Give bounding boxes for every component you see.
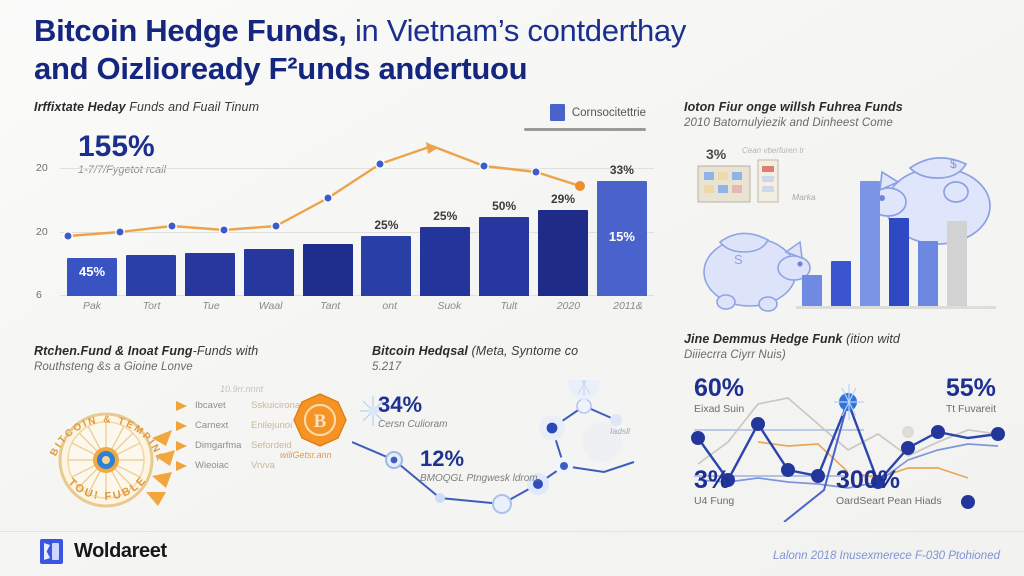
lines-stat-tr-caption: Tt Fuvareit [946,403,996,415]
lines-stat-tr-value: 55% [946,376,996,401]
network-stat-2-value: 12% [420,448,540,470]
network-node-label: Iadsll [610,426,630,436]
arrow-icon [176,461,187,471]
wheel-legend-value: Vrvva [251,460,275,471]
wheel-title-rest: -Funds with [193,344,259,358]
wheel-panel: Rtchen.Fund & Inoat Fung-Funds with Rout… [34,344,364,529]
piggy-panel-title: Ioton Fiur onge willsh Fuhrea Funds [684,100,1004,114]
brand-name: Woldareet [74,540,167,563]
wheel-legend-row: CarnextEnilejunoi [176,420,300,431]
x-axis-label: Pak [66,300,118,312]
wheel-legend-key: Wieoiac [195,460,243,471]
x-axis-label: Suok [423,300,475,312]
network-stat-1-value: 34% [378,394,447,416]
network-stat-1-caption: Cersn Culioram [378,419,447,430]
piggy-note: Cean vberfuren tr [742,146,828,155]
legend-swatch-icon [550,104,565,121]
combo-title-bold: Irffixtate Heday [34,100,126,114]
page-title: Bitcoin Hedge Funds, in Vietnam’s contde… [34,12,864,88]
network-stat-2: 12% BMOQGL Ptngwesk ldrom. [420,448,540,484]
poster-header: Bitcoin Hedge Funds, in Vietnam’s contde… [34,12,864,88]
trend-arrow-icon [426,142,438,154]
legend-rule-line [524,128,646,131]
lines-stat-br-value: 300% [836,468,942,493]
wheel-panel-title: Rtchen.Fund & Inoat Fung-Funds with [34,344,364,358]
network-title-rest: (Meta, Syntome co [468,344,578,358]
title-secondary: in Vietnam’s contderthay [347,13,686,48]
arrow-icon [176,441,187,451]
mini-bar[interactable] [802,275,822,307]
x-axis-label: Tue [185,300,237,312]
wheel-panel-subtitle: Routhsteng &s a Gioine Lonve [34,361,364,373]
lines-stat-tl-value: 60% [694,376,744,401]
arrow-icon [176,421,187,431]
x-axis-label: Tort [126,300,178,312]
piggy-bank-sketch-icon: S [690,212,812,314]
lines-title-bold: Jine Demmus Hedge Funk [684,332,843,346]
y-axis-tick: 20 [36,226,48,238]
bitcoin-badge-label: wiliGetsr.ann [280,450,332,460]
combo-stat-value: 155% [78,132,166,162]
mini-bar-group [802,179,967,307]
svg-text:$: $ [950,157,957,171]
wheel-legend-key: Dimgarfma [195,440,243,451]
network-panel-subtitle: 5.217 [372,361,672,373]
x-axis-label: Tant [304,300,356,312]
lines-title-rest: (ition witd [843,332,900,346]
x-axis-label: 2011& [602,300,654,312]
lines-stat-bottom-left: 3% U4 Fung [694,468,734,507]
lines-stat-bottom-right: 300% OardSeart Pean Hiads [836,468,942,507]
building-sketch-icon [696,158,788,204]
mini-bar[interactable] [860,181,880,307]
wheel-legend-row: IbcavetSskuicirona [176,400,300,411]
piggy-bank-panel: Ioton Fiur onge willsh Fuhrea Funds 2010… [684,100,1004,325]
bitcoin-badge-icon: B [292,392,348,448]
network-title-bold: Bitcoin Hedqsal [372,344,468,358]
lines-stat-br-caption: OardSeart Pean Hiads [836,495,942,507]
lines-stat-tl-caption: Eixad Suin [694,403,744,415]
lines-stat-bl-caption: U4 Fung [694,495,734,507]
svg-text:S: S [734,252,743,267]
combo-chart-panel: Irffixtate Heday Funds and Fuail Tinum 1… [34,100,654,325]
arrow-icon [176,401,187,411]
mini-bar[interactable] [889,218,909,307]
trend-line-overlay [60,168,660,296]
title-line-2: and Oizlioready F²unds andertuou [34,50,864,88]
x-axis-label: Tult [483,300,535,312]
spoked-wheel-icon: BITCOIN & TEMPINE S TOU! FUBLE [36,388,176,522]
brand-lockup: Woldareet [40,539,167,564]
piggy-panel-subtitle: 2010 Batornulyiezik and Dinheest Come [684,117,1004,129]
trend-line-markers [64,160,585,240]
mini-bar[interactable] [947,221,967,307]
snowflake-accent-icon [834,384,864,420]
wheel-legend-list: IbcavetSskuicironaCarnextEnilejunoiDimga… [176,400,300,471]
mini-chart-baseline [796,306,996,309]
legend-label: Cornsocitettrie [572,107,646,119]
multi-line-panel: Jine Demmus Hedge Funk (ition witd Diiie… [684,332,1006,532]
x-axis-label: 2020 [542,300,594,312]
combo-plot-area: 20 20 6 45%25%25%50%29%33%15% [60,168,654,296]
wheel-legend-key: Carnext [195,420,243,431]
wheel-title-bold: Rtchen.Fund & Inoat Fung [34,344,193,358]
combo-title-rest: Funds and Fuail Tinum [126,100,259,114]
lines-stat-top-left: 60% Eixad Suin [694,376,744,415]
wheel-legend-row: WieoiacVrvva [176,460,300,471]
y-axis-tick: 20 [36,162,48,174]
network-stat-2-caption: BMOQGL Ptngwesk ldrom. [420,473,540,484]
svg-text:B: B [314,411,327,432]
lines-panel-title: Jine Demmus Hedge Funk (ition witd [684,332,1006,346]
lines-stat-top-right: 55% Tt Fuvareit [946,376,996,415]
brand-logo-icon [40,539,63,564]
x-axis-labels: PakTortTueWaalTantontSuokTult20202011& [66,300,654,312]
network-panel-title: Bitcoin Hedqsal (Meta, Syntome co [372,344,672,358]
chart-legend: Cornsocitettrie [550,104,646,121]
footer-note: Lalonn 2018 Inusexmerece F-030 Ptohioned [773,550,1000,562]
mini-bar[interactable] [831,261,851,307]
network-panel: Bitcoin Hedqsal (Meta, Syntome co 5.217 [372,344,672,529]
wheel-legend-key: Ibcavet [195,400,243,411]
network-stat-1: 34% Cersn Culioram [378,394,447,430]
x-axis-label: ont [364,300,416,312]
wheel-legend-value: Enilejunoi [251,420,292,431]
title-primary: Bitcoin Hedge Funds, [34,13,347,48]
wheel-caption: 10.9rr.nnnt [220,384,263,394]
lines-stat-bl-value: 3% [694,468,734,493]
infographic-poster: Bitcoin Hedge Funds, in Vietnam’s contde… [0,0,1024,576]
x-axis-label: Waal [245,300,297,312]
lines-panel-subtitle: Diiiecrra Ciyrr Nuis) [684,349,1006,361]
mini-bar[interactable] [918,241,938,307]
y-axis-tick: 6 [36,289,42,301]
footer-divider [0,531,1024,532]
